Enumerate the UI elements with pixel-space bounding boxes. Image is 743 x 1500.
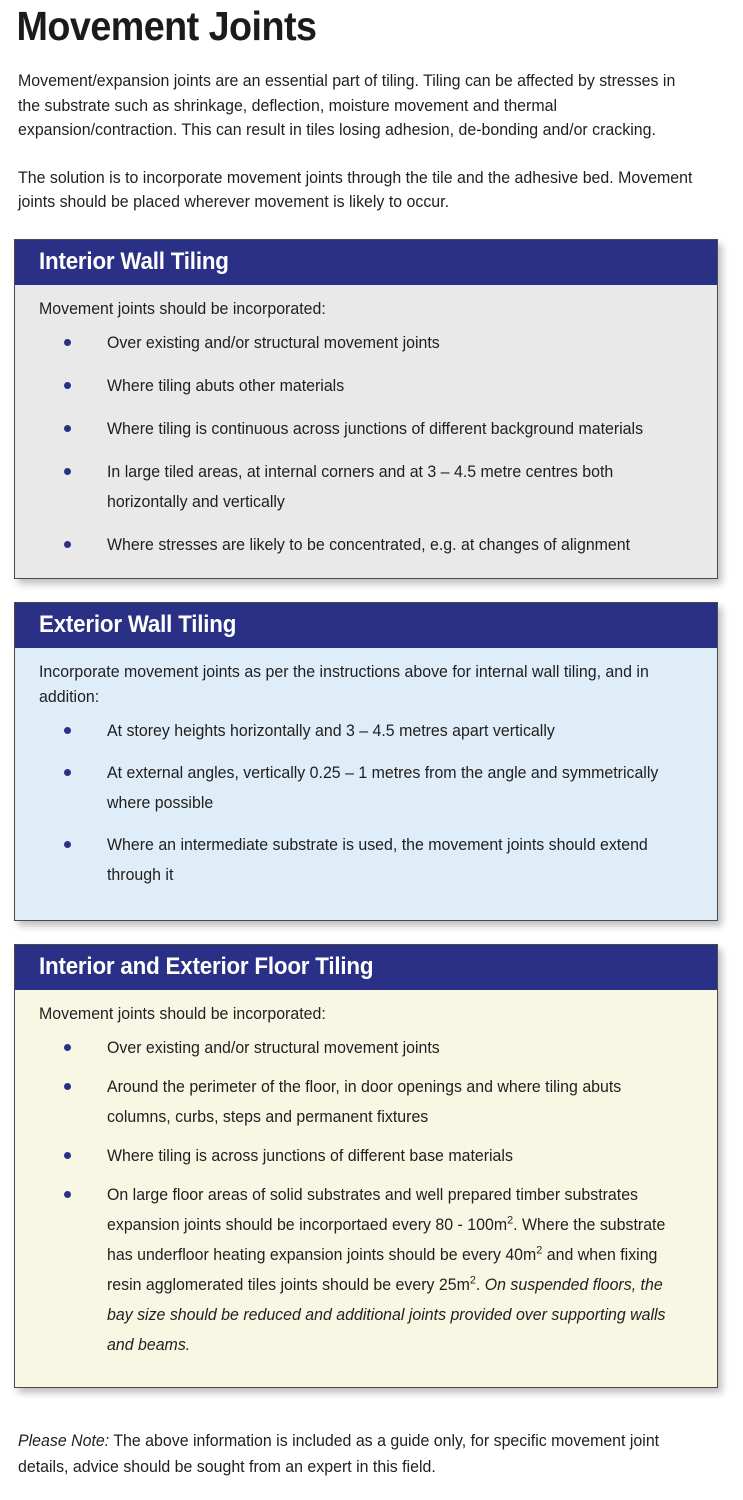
bullet-dot-icon bbox=[64, 769, 71, 776]
section-title: Exterior Wall Tiling bbox=[39, 611, 236, 639]
section-lead-text: Incorporate movement joints as per the i… bbox=[39, 660, 672, 710]
list-item: At storey heights horizontally and 3 – 4… bbox=[39, 716, 695, 746]
bullet-text: In large tiled areas, at internal corner… bbox=[107, 457, 674, 517]
section-header-bar: Exterior Wall Tiling bbox=[15, 603, 717, 648]
page-title: Movement Joints bbox=[0, 0, 684, 49]
footer-note-label: Please Note: bbox=[18, 1432, 109, 1450]
intro-section: Movement/expansion joints are an essenti… bbox=[0, 69, 743, 215]
bullet-list: Over existing and/or structural movement… bbox=[39, 1033, 695, 1360]
section-interior-wall-tiling: Interior Wall Tiling Movement joints sho… bbox=[14, 239, 718, 579]
bullet-dot-icon bbox=[64, 339, 71, 346]
section-header-bar: Interior and Exterior Floor Tiling bbox=[15, 945, 717, 990]
section-body: Movement joints should be incorporated: … bbox=[15, 285, 717, 578]
bullet-text-rich: On large floor areas of solid substrates… bbox=[107, 1180, 674, 1360]
list-item: Where tiling is across junctions of diff… bbox=[39, 1141, 695, 1171]
bullet-dot-icon bbox=[64, 1083, 71, 1090]
bullet-text: At storey heights horizontally and 3 – 4… bbox=[107, 716, 674, 746]
bullet-text: Around the perimeter of the floor, in do… bbox=[107, 1072, 674, 1132]
footer-note: Please Note: The above information is in… bbox=[0, 1428, 743, 1494]
list-item: Where stresses are likely to be concentr… bbox=[39, 530, 695, 560]
bullet-dot-icon bbox=[64, 468, 71, 475]
footer-note-text: The above information is included as a g… bbox=[18, 1432, 659, 1476]
bullet-text: Where tiling is continuous across juncti… bbox=[107, 414, 674, 444]
sections-container: Interior Wall Tiling Movement joints sho… bbox=[0, 239, 743, 1388]
document-page: Movement Joints Movement/expansion joint… bbox=[0, 0, 743, 1494]
bullet-dot-icon bbox=[64, 1191, 71, 1198]
list-item: In large tiled areas, at internal corner… bbox=[39, 457, 695, 517]
section-interior-exterior-floor-tiling: Interior and Exterior Floor Tiling Movem… bbox=[14, 944, 718, 1388]
intro-paragraph-2: The solution is to incorporate movement … bbox=[18, 166, 698, 215]
intro-paragraph-1: Movement/expansion joints are an essenti… bbox=[18, 69, 698, 143]
bullet-dot-icon bbox=[64, 1152, 71, 1159]
list-item: On large floor areas of solid substrates… bbox=[39, 1180, 695, 1360]
bullet-text: Over existing and/or structural movement… bbox=[107, 328, 674, 358]
bullet-text: Where stresses are likely to be concentr… bbox=[107, 530, 674, 560]
list-item: At external angles, vertically 0.25 – 1 … bbox=[39, 758, 695, 818]
bullet-text: Where tiling abuts other materials bbox=[107, 371, 674, 401]
section-lead-text: Movement joints should be incorporated: bbox=[39, 1002, 672, 1027]
list-item: Around the perimeter of the floor, in do… bbox=[39, 1072, 695, 1132]
footer-note-inner: Please Note: The above information is in… bbox=[18, 1428, 698, 1480]
bullet-text: Where an intermediate substrate is used,… bbox=[107, 830, 674, 890]
bullet-list: At storey heights horizontally and 3 – 4… bbox=[39, 716, 695, 890]
bullet-dot-icon bbox=[64, 382, 71, 389]
bullet-text: Over existing and/or structural movement… bbox=[107, 1033, 674, 1063]
list-item: Where tiling is continuous across juncti… bbox=[39, 414, 695, 444]
bullet-dot-icon bbox=[64, 727, 71, 734]
bullet-list: Over existing and/or structural movement… bbox=[39, 328, 695, 560]
bullet-text: Where tiling is across junctions of diff… bbox=[107, 1141, 674, 1171]
list-item: Over existing and/or structural movement… bbox=[39, 328, 695, 358]
bullet-dot-icon bbox=[64, 1044, 71, 1051]
bullet-dot-icon bbox=[64, 841, 71, 848]
section-title: Interior Wall Tiling bbox=[39, 248, 229, 276]
section-body: Incorporate movement joints as per the i… bbox=[15, 648, 717, 920]
bullet-dot-icon bbox=[64, 425, 71, 432]
section-title: Interior and Exterior Floor Tiling bbox=[39, 953, 373, 981]
section-body: Movement joints should be incorporated: … bbox=[15, 990, 717, 1387]
list-item: Where tiling abuts other materials bbox=[39, 371, 695, 401]
list-item: Over existing and/or structural movement… bbox=[39, 1033, 695, 1063]
bullet-dot-icon bbox=[64, 541, 71, 548]
section-exterior-wall-tiling: Exterior Wall Tiling Incorporate movemen… bbox=[14, 602, 718, 921]
list-item: Where an intermediate substrate is used,… bbox=[39, 830, 695, 890]
section-header-bar: Interior Wall Tiling bbox=[15, 240, 717, 285]
section-lead-text: Movement joints should be incorporated: bbox=[39, 297, 672, 322]
bullet-text: At external angles, vertically 0.25 – 1 … bbox=[107, 758, 674, 818]
